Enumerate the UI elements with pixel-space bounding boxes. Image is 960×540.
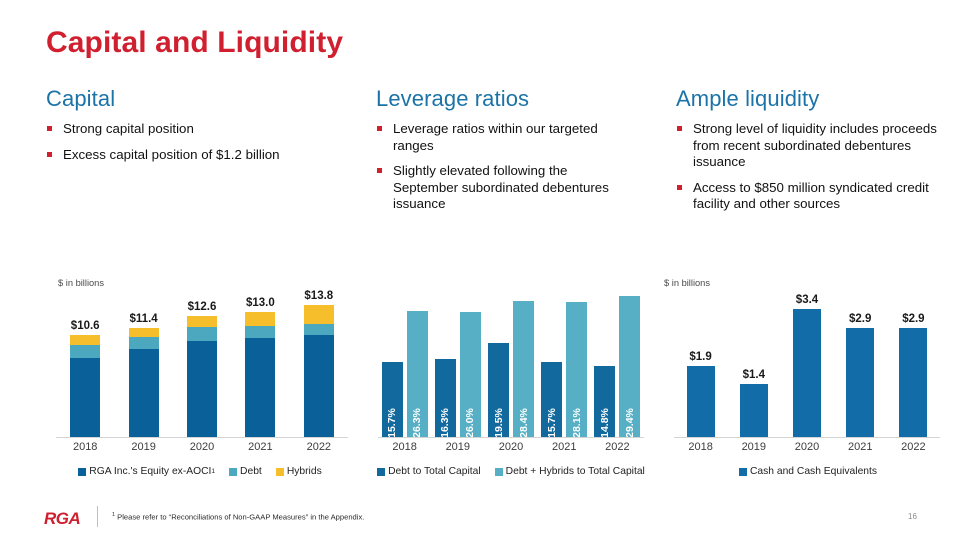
- legend-item[interactable]: RGA Inc.'s Equity ex-AOCI1: [78, 466, 215, 477]
- bar-segment[interactable]: [304, 305, 334, 324]
- x-axis-tick-label: 2021: [834, 441, 887, 453]
- bar-value-label: 19.5%: [493, 408, 505, 438]
- legend-item[interactable]: Cash and Cash Equivalents: [739, 466, 877, 477]
- bar-value-label: 16.3%: [439, 408, 451, 438]
- bullet-list-leverage: Leverage ratios within our targeted rang…: [376, 121, 631, 213]
- bar-segment[interactable]: [70, 358, 100, 437]
- legend-label: Hybrids: [287, 466, 322, 477]
- footer-vertical-rule: [97, 506, 98, 527]
- bullet-text: Excess capital position of $1.2 billion: [63, 147, 280, 162]
- column-heading-capital: Capital: [46, 86, 346, 112]
- x-axis-line: [378, 437, 644, 438]
- stacked-bar[interactable]: $13.0: [245, 312, 275, 437]
- bar-value-label: $10.6: [70, 320, 100, 332]
- bar-segment[interactable]: [245, 338, 275, 437]
- liquidity-chart: $ in billions $1.9$1.4$3.4$2.9$2.9 20182…: [660, 278, 956, 490]
- bar-value-label: $12.6: [187, 301, 217, 313]
- bar-value-label: 28.1%: [571, 408, 583, 438]
- bar[interactable]: 19.5%: [488, 343, 509, 437]
- bar-value-label: $11.4: [129, 313, 159, 325]
- bullet-marker-icon: [677, 126, 682, 131]
- bar[interactable]: 29.4%: [619, 296, 640, 437]
- bullet-text: Slightly elevated following the Septembe…: [393, 163, 609, 211]
- column-leverage: Leverage ratios Leverage ratios within o…: [376, 86, 631, 222]
- x-axis-tick-label: 2019: [114, 441, 172, 453]
- x-axis-tick-label: 2020: [780, 441, 833, 453]
- bar-segment[interactable]: [129, 328, 159, 338]
- leverage-chart: 15.7%26.3%16.3%26.0%19.5%28.4%15.7%28.1%…: [370, 278, 652, 490]
- bar-segment[interactable]: [70, 345, 100, 358]
- footer-divider: [0, 498, 960, 499]
- x-axis-tick-label: 2022: [887, 441, 940, 453]
- legend-label: RGA Inc.'s Equity ex-AOCI: [89, 466, 211, 477]
- stacked-bar[interactable]: $10.6: [70, 335, 100, 437]
- capital-x-axis-labels: 20182019202020212022: [56, 441, 348, 453]
- bullet-list-liquidity: Strong level of liquidity includes proce…: [676, 121, 948, 213]
- legend-swatch-icon: [78, 468, 86, 476]
- legend-item[interactable]: Debt to Total Capital: [377, 466, 481, 477]
- legend-footnote-marker: 1: [211, 468, 215, 475]
- stacked-bar[interactable]: $12.6: [187, 316, 217, 437]
- bar[interactable]: $2.9: [846, 328, 874, 437]
- bar-value-label: $2.9: [899, 313, 927, 325]
- legend-item[interactable]: Hybrids: [276, 466, 322, 477]
- capital-plot-area: $10.6$11.4$12.6$13.0$13.8: [56, 298, 348, 437]
- bar-value-label: 28.4%: [518, 408, 530, 438]
- bullet-marker-icon: [47, 126, 52, 131]
- x-axis-tick-label: 2021: [231, 441, 289, 453]
- bar-value-label: 15.7%: [546, 408, 558, 438]
- list-item: Strong capital position: [46, 121, 346, 138]
- bar-value-label: $1.9: [687, 351, 715, 363]
- bar-segment[interactable]: [304, 335, 334, 437]
- bar-value-label: $13.0: [245, 297, 275, 309]
- bar-value-label: 26.3%: [411, 408, 423, 438]
- bar[interactable]: $3.4: [793, 309, 821, 437]
- bar-segment[interactable]: [187, 341, 217, 437]
- bar[interactable]: 16.3%: [435, 359, 456, 437]
- list-item: Excess capital position of $1.2 billion: [46, 147, 346, 164]
- legend-swatch-icon: [377, 468, 385, 476]
- liquidity-legend: Cash and Cash Equivalents: [660, 466, 956, 477]
- bar-value-label: 15.7%: [386, 408, 398, 438]
- footnote-text: Please refer to “Reconciliations of Non-…: [115, 513, 364, 522]
- chart-units-label: $ in billions: [664, 278, 710, 288]
- page-title: Capital and Liquidity: [46, 26, 343, 60]
- legend-item[interactable]: Debt + Hybrids to Total Capital: [495, 466, 645, 477]
- bullet-marker-icon: [677, 185, 682, 190]
- footnote: 1 Please refer to “Reconciliations of No…: [112, 512, 364, 522]
- bullet-text: Strong capital position: [63, 121, 194, 136]
- bullet-marker-icon: [47, 152, 52, 157]
- list-item: Strong level of liquidity includes proce…: [676, 121, 948, 171]
- legend-label: Debt: [240, 466, 262, 477]
- legend-swatch-icon: [229, 468, 237, 476]
- x-axis-tick-label: 2019: [727, 441, 780, 453]
- legend-label: Cash and Cash Equivalents: [750, 466, 877, 477]
- stacked-bar[interactable]: $11.4: [129, 328, 159, 437]
- x-axis-tick-label: 2018: [378, 441, 431, 453]
- bar-value-label: 29.4%: [624, 408, 636, 438]
- bullet-list-capital: Strong capital position Excess capital p…: [46, 121, 346, 163]
- x-axis-tick-label: 2022: [591, 441, 644, 453]
- bar-segment[interactable]: [187, 327, 217, 341]
- leverage-legend: Debt to Total CapitalDebt + Hybrids to T…: [370, 466, 652, 477]
- capital-legend: RGA Inc.'s Equity ex-AOCI1DebtHybrids: [44, 466, 356, 477]
- liquidity-plot-area: $1.9$1.4$3.4$2.9$2.9: [674, 298, 940, 437]
- x-axis-tick-label: 2019: [431, 441, 484, 453]
- x-axis-tick-label: 2020: [484, 441, 537, 453]
- bar-value-label: 14.8%: [599, 408, 611, 438]
- bar[interactable]: 26.3%: [407, 311, 428, 437]
- bar[interactable]: 28.4%: [513, 301, 534, 438]
- bar-segment[interactable]: [304, 324, 334, 336]
- bar[interactable]: 28.1%: [566, 302, 587, 437]
- list-item: Access to $850 million syndicated credit…: [676, 180, 948, 213]
- leverage-plot-area: 15.7%26.3%16.3%26.0%19.5%28.4%15.7%28.1%…: [378, 288, 644, 437]
- column-heading-leverage: Leverage ratios: [376, 86, 631, 112]
- slide: Capital and Liquidity Capital Strong cap…: [0, 0, 960, 540]
- legend-label: Debt + Hybrids to Total Capital: [506, 466, 645, 477]
- bar[interactable]: $1.9: [687, 366, 715, 437]
- rga-logo: RGA: [44, 509, 80, 529]
- page-number: 16: [908, 512, 917, 521]
- legend-swatch-icon: [495, 468, 503, 476]
- bar[interactable]: 15.7%: [541, 362, 562, 437]
- x-axis-tick-label: 2021: [538, 441, 591, 453]
- bullet-text: Access to $850 million syndicated credit…: [693, 180, 929, 212]
- bar-value-label: $13.8: [304, 290, 334, 302]
- leverage-x-axis-labels: 20182019202020212022: [378, 441, 644, 453]
- bar-segment[interactable]: [187, 316, 217, 327]
- legend-label: Debt to Total Capital: [388, 466, 481, 477]
- bar[interactable]: $1.4: [740, 384, 768, 437]
- bar-segment[interactable]: [245, 312, 275, 325]
- list-item: Slightly elevated following the Septembe…: [376, 163, 631, 213]
- bar-segment[interactable]: [245, 326, 275, 338]
- x-axis-tick-label: 2020: [173, 441, 231, 453]
- legend-swatch-icon: [276, 468, 284, 476]
- bar-segment[interactable]: [129, 337, 159, 349]
- x-axis-tick-label: 2018: [56, 441, 114, 453]
- bar[interactable]: 15.7%: [382, 362, 403, 437]
- x-axis-line: [674, 437, 940, 438]
- bullet-text: Leverage ratios within our targeted rang…: [393, 121, 598, 153]
- bar[interactable]: 26.0%: [460, 312, 481, 437]
- column-liquidity: Ample liquidity Strong level of liquidit…: [676, 86, 948, 222]
- liquidity-x-axis-labels: 20182019202020212022: [674, 441, 940, 453]
- bullet-text: Strong level of liquidity includes proce…: [693, 121, 937, 169]
- bar-segment[interactable]: [129, 349, 159, 437]
- bullet-marker-icon: [377, 126, 382, 131]
- column-capital: Capital Strong capital position Excess c…: [46, 86, 346, 172]
- list-item: Leverage ratios within our targeted rang…: [376, 121, 631, 154]
- legend-item[interactable]: Debt: [229, 466, 262, 477]
- bar-segment[interactable]: [70, 335, 100, 345]
- capital-chart: $ in billions $10.6$11.4$12.6$13.0$13.8 …: [44, 278, 356, 490]
- bar-value-label: $2.9: [846, 313, 874, 325]
- legend-swatch-icon: [739, 468, 747, 476]
- stacked-bar[interactable]: $13.8: [304, 305, 334, 437]
- column-heading-liquidity: Ample liquidity: [676, 86, 948, 112]
- x-axis-tick-label: 2018: [674, 441, 727, 453]
- chart-units-label: $ in billions: [58, 278, 104, 288]
- bar-value-label: $3.4: [793, 294, 821, 306]
- bullet-marker-icon: [377, 168, 382, 173]
- bar-value-label: 26.0%: [464, 408, 476, 438]
- bar[interactable]: $2.9: [899, 328, 927, 437]
- bar[interactable]: 14.8%: [594, 366, 615, 437]
- x-axis-tick-label: 2022: [290, 441, 348, 453]
- bar-value-label: $1.4: [740, 369, 768, 381]
- x-axis-line: [56, 437, 348, 438]
